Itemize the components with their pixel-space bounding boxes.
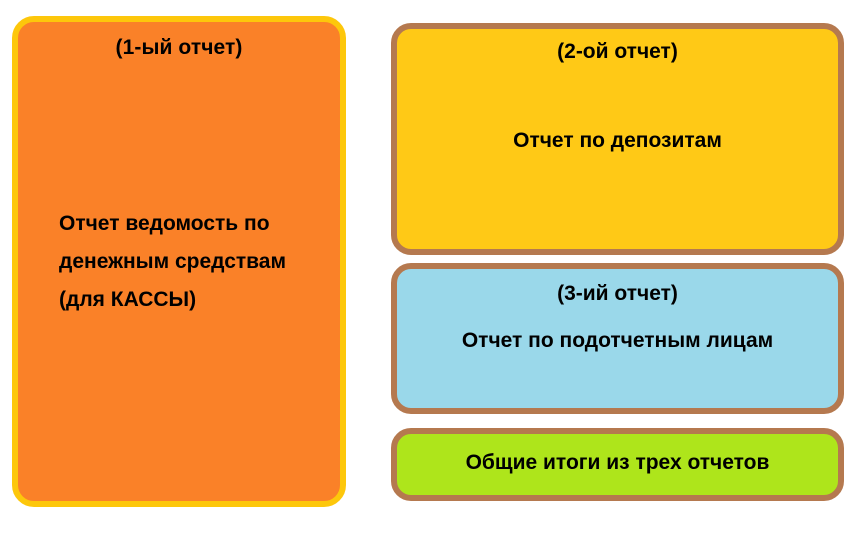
diagram-canvas: (1-ый отчет) Отчет ведомость по денежным… <box>0 0 855 539</box>
card-report-1[interactable]: (1-ый отчет) Отчет ведомость по денежным… <box>12 16 346 507</box>
card-report-1-body: Отчет ведомость по денежным средствам (д… <box>59 205 326 319</box>
card-report-3-body: Отчет по подотчетным лицам <box>397 329 838 353</box>
card-report-3[interactable]: (3-ий отчет) Отчет по подотчетным лицам <box>391 263 844 414</box>
card-report-2-body: Отчет по депозитам <box>397 129 838 153</box>
card-report-1-title: (1-ый отчет) <box>18 36 340 60</box>
card-report-2[interactable]: (2-ой отчет) Отчет по депозитам <box>391 23 844 255</box>
card-totals-body: Общие итоги из трех отчетов <box>397 451 838 475</box>
card-totals[interactable]: Общие итоги из трех отчетов <box>391 428 844 501</box>
card-report-3-title: (3-ий отчет) <box>397 282 838 306</box>
card-report-2-title: (2-ой отчет) <box>397 40 838 64</box>
